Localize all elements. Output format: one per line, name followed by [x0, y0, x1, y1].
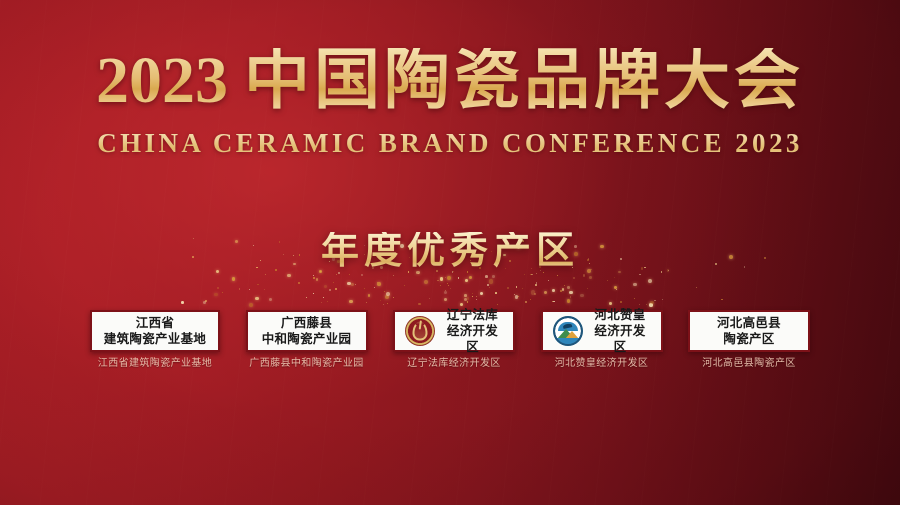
- card-title: 河北高邑县 陶瓷产区: [717, 315, 781, 347]
- award-card-1[interactable]: 江西省 建筑陶瓷产业基地江西省建筑陶瓷产业基地: [90, 310, 220, 369]
- card-title: 江西省 建筑陶瓷产业基地: [104, 315, 206, 347]
- card-plaque[interactable]: 辽宁法库 经济开发区: [393, 310, 515, 352]
- award-card-4[interactable]: 河北赞皇 经济开发区河北赞皇经济开发区: [541, 310, 663, 369]
- award-heading-wrap: 年度优秀产区: [0, 232, 900, 288]
- award-card-5[interactable]: 河北高邑县 陶瓷产区河北高邑县陶瓷产区: [688, 310, 810, 369]
- title-block: 2023中国陶瓷品牌大会 CHINA CERAMIC BRAND CONFERE…: [0, 48, 900, 159]
- card-caption: 河北赞皇经济开发区: [555, 359, 649, 369]
- card-plaque[interactable]: 河北高邑县 陶瓷产区: [688, 310, 810, 352]
- award-card-2[interactable]: 广西藤县 中和陶瓷产业园广西藤县中和陶瓷产业园: [246, 310, 368, 369]
- card-caption: 辽宁法库经济开发区: [407, 359, 501, 369]
- card-plaque[interactable]: 河北赞皇 经济开发区: [541, 310, 663, 352]
- card-title: 辽宁法库 经济开发区: [442, 307, 503, 355]
- card-plaque[interactable]: 江西省 建筑陶瓷产业基地: [90, 310, 220, 352]
- card-caption: 江西省建筑陶瓷产业基地: [98, 359, 212, 369]
- card-plaque[interactable]: 广西藤县 中和陶瓷产业园: [246, 310, 368, 352]
- award-category-heading: 年度优秀产区: [321, 232, 579, 270]
- zanhuang-emblem-icon: [553, 316, 583, 346]
- card-caption: 广西藤县中和陶瓷产业园: [249, 359, 363, 369]
- award-cards-row: 江西省 建筑陶瓷产业基地江西省建筑陶瓷产业基地广西藤县 中和陶瓷产业园广西藤县中…: [90, 310, 810, 369]
- title-year: 2023: [96, 44, 228, 117]
- card-caption: 河北高邑县陶瓷产区: [702, 359, 796, 369]
- title-english: CHINA CERAMIC BRAND CONFERENCE 2023: [0, 128, 900, 159]
- conference-poster: 2023中国陶瓷品牌大会 CHINA CERAMIC BRAND CONFERE…: [0, 0, 900, 505]
- card-title: 广西藤县 中和陶瓷产业园: [262, 315, 352, 347]
- faku-emblem-icon: [405, 316, 435, 346]
- page-title: 2023中国陶瓷品牌大会: [0, 48, 900, 114]
- card-title: 河北赞皇 经济开发区: [590, 307, 651, 355]
- award-card-3[interactable]: 辽宁法库 经济开发区辽宁法库经济开发区: [393, 310, 515, 369]
- title-chinese: 中国陶瓷品牌大会: [244, 44, 804, 117]
